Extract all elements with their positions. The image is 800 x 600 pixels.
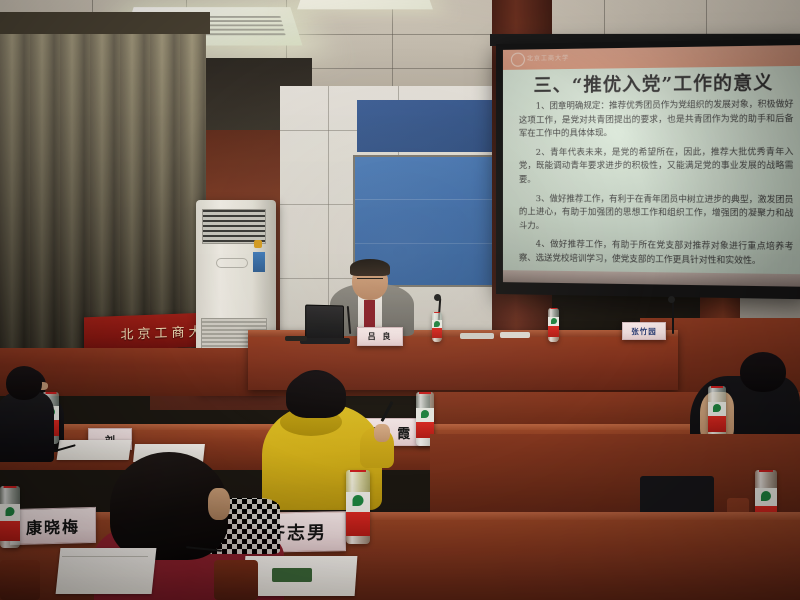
air-conditioner-energy-label (253, 252, 265, 272)
air-conditioner-badge (216, 258, 248, 268)
university-logo-icon (511, 53, 525, 67)
podium-remote (285, 336, 307, 341)
speaker-tie (364, 300, 375, 330)
water-bottle-front-left (0, 486, 20, 548)
slide-body: 1、团章明确规定：推荐优秀团员作为党组织的发展对象，积极做好这项工作，是党对共青… (519, 97, 794, 274)
nameplate-speaker: 吕 良 (357, 327, 403, 346)
slide-header-band: 北京工商大学 (503, 45, 800, 70)
water-bottle-podium-center (432, 312, 442, 342)
nameplate-speaker-text: 吕 良 (368, 331, 393, 342)
nameplate-front-left-text: 康晓梅 (26, 513, 80, 538)
air-conditioner-grill (202, 209, 266, 244)
nameplate-front-left: 康晓梅 (10, 507, 96, 545)
slide-paragraph: 2、青年代表未来，是党的希望所在，因此，推荐大批优秀青年入党，既能调动青年要求进… (519, 145, 794, 187)
chair-front-left (0, 560, 40, 600)
nameplate-podium-right: 张竹园 (622, 322, 666, 340)
slide-paragraph: 3、做好推荐工作，有利于在青年团员中树立进步的典型，激发团员的上进心，有助于加强… (519, 192, 794, 235)
notebook-front-left (56, 548, 157, 594)
ceiling-light-fixture-secondary (297, 0, 433, 9)
attendee-black-left-body (0, 392, 54, 462)
attendee-yellow-hair (286, 372, 346, 418)
attendee-black-left-head (6, 366, 42, 400)
water-bottle-row2-b (708, 386, 726, 440)
slide-footer-band (503, 270, 800, 287)
slide-paragraph: 4、做好推荐工作，有助于所在党支部对推荐对象进行重点培养考察、选送党校培训学习，… (519, 238, 794, 269)
curtain-shading (0, 18, 206, 348)
notebook-row3 (57, 440, 132, 460)
presentation-slide: 北京工商大学 三、“推优入党”工作的意义 1、团章明确规定：推荐优秀团员作为党组… (503, 45, 800, 287)
lecture-hall-photo: 北京工商大学 三、“推优入党”工作的意义 1、团章明确规定：推荐优秀团员作为党组… (0, 0, 800, 600)
notebook-line (62, 556, 148, 557)
projection-screen-surface: 北京工商大学 三、“推优入党”工作的意义 1、团章明确规定：推荐优秀团员作为党组… (503, 45, 800, 287)
laptop-base[interactable] (300, 338, 350, 344)
slide-logo-text: 北京工商大学 (527, 53, 569, 63)
microphone-stand-right (672, 300, 674, 334)
water-bottle-front-mid (346, 470, 370, 544)
nameplate-podium-right-text: 张竹园 (631, 326, 657, 337)
speaker-glasses-icon (357, 278, 383, 283)
podium-paper-2 (500, 332, 530, 338)
projection-screen: 北京工商大学 三、“推优入党”工作的意义 1、团章明确规定：推荐优秀团员作为党组… (496, 39, 800, 300)
attendee-yellow-hand (374, 424, 390, 442)
attendee-red-ear (208, 488, 230, 520)
microphone-head-right (668, 296, 675, 303)
speaker-hair (350, 259, 390, 276)
slide-paragraph: 1、团章明确规定：推荐优秀团员作为党组织的发展对象，积极做好这项工作，是党对共青… (519, 97, 794, 141)
chair-front-mid (214, 560, 258, 600)
air-conditioner-label-icon (254, 240, 262, 248)
blue-panel-upper (357, 100, 493, 152)
pen-case-front-mid (272, 568, 312, 582)
microphone-head-center (434, 294, 441, 301)
slide-title: 三、“推优入党”工作的意义 (503, 68, 800, 98)
podium-paper (460, 333, 494, 339)
attendee-black-right-head (740, 352, 786, 392)
curtain-rail (0, 12, 210, 34)
water-bottle-podium (548, 308, 559, 342)
